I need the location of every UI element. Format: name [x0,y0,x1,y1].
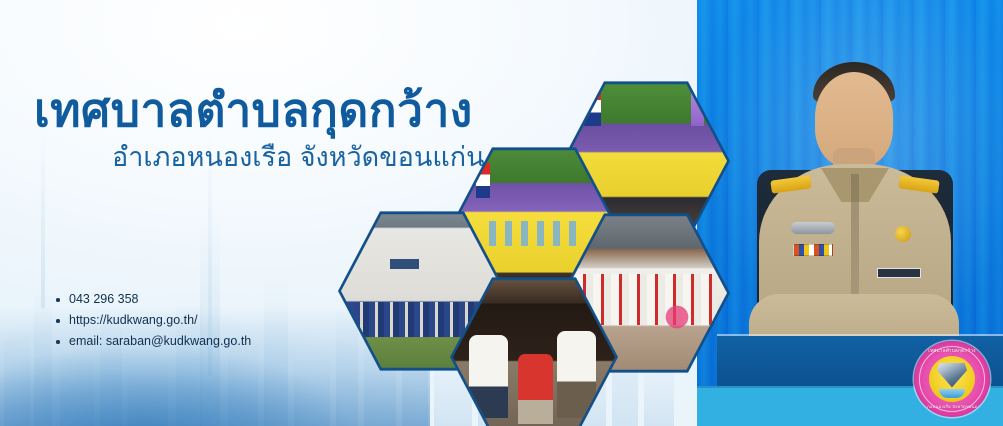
photo-homevisit-subject [518,354,554,424]
official-figure [749,60,959,360]
municipality-banner: เทศบาลตำบลกุดกว้าง อำเภอหนองเรือ จังหวัด… [0,0,1003,426]
contact-phone-text: 043 296 358 [69,292,139,306]
wing-badge-icon [791,222,835,234]
medal-icon [895,226,911,242]
seal-text-top: เทศบาลตำบลกุดกว้าง [914,348,990,355]
service-ribbons [793,244,833,256]
municipal-seal-logo: เทศบาลตำบลกุดกว้าง อำเภอหนองเรือ จังหวัด… [914,341,990,417]
contact-website-text[interactable]: https://kudkwang.go.th/ [69,313,198,327]
seal-text-bottom: อำเภอหนองเรือ จังหวัดขอนแก่น [914,403,990,410]
uniform-name-tag [877,268,921,278]
contact-email-text[interactable]: email: saraban@kudkwang.go.th [69,334,251,348]
uniform-collar [821,168,889,202]
photo-collage [330,70,750,400]
